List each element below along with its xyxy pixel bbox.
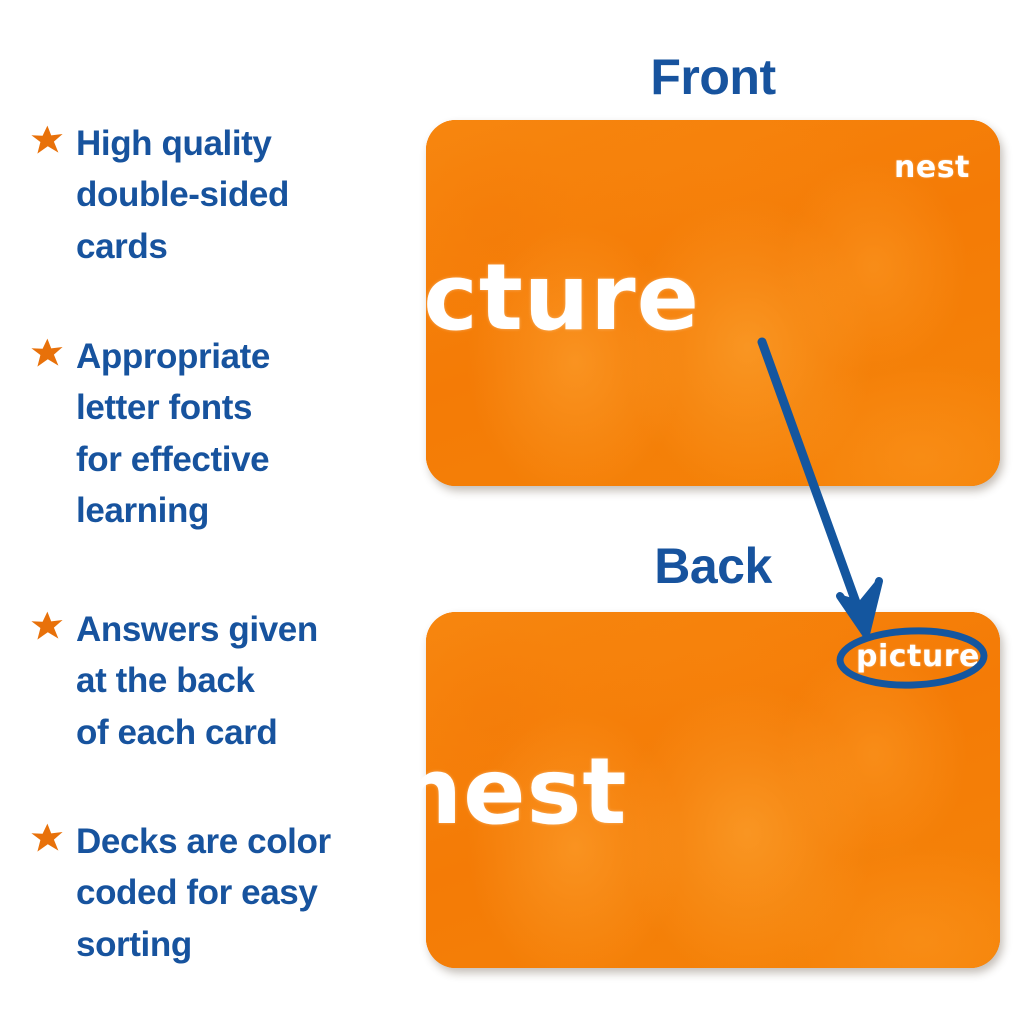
front-card-corner-word: nest <box>894 153 970 183</box>
feature-text: High quality double-sided cards <box>76 118 289 272</box>
star-icon <box>30 610 64 644</box>
front-card-label: Front <box>563 52 863 102</box>
feature-text: Appropriate letter fonts for effective l… <box>76 331 270 537</box>
front-card-main-word: picture <box>0 252 1024 344</box>
list-item: Decks are color coded for easy sorting <box>30 816 400 970</box>
list-item: Appropriate letter fonts for effective l… <box>30 331 400 537</box>
star-icon <box>30 124 64 158</box>
back-card-main-word: nest <box>0 746 1024 838</box>
back-card-corner-word: picture <box>856 642 980 672</box>
list-item: Answers given at the back of each card <box>30 604 400 758</box>
feature-text: Answers given at the back of each card <box>76 604 318 758</box>
feature-text: Decks are color coded for easy sorting <box>76 816 331 970</box>
feature-list: High quality double-sided cards Appropri… <box>0 0 410 1024</box>
back-card-label: Back <box>563 541 863 591</box>
